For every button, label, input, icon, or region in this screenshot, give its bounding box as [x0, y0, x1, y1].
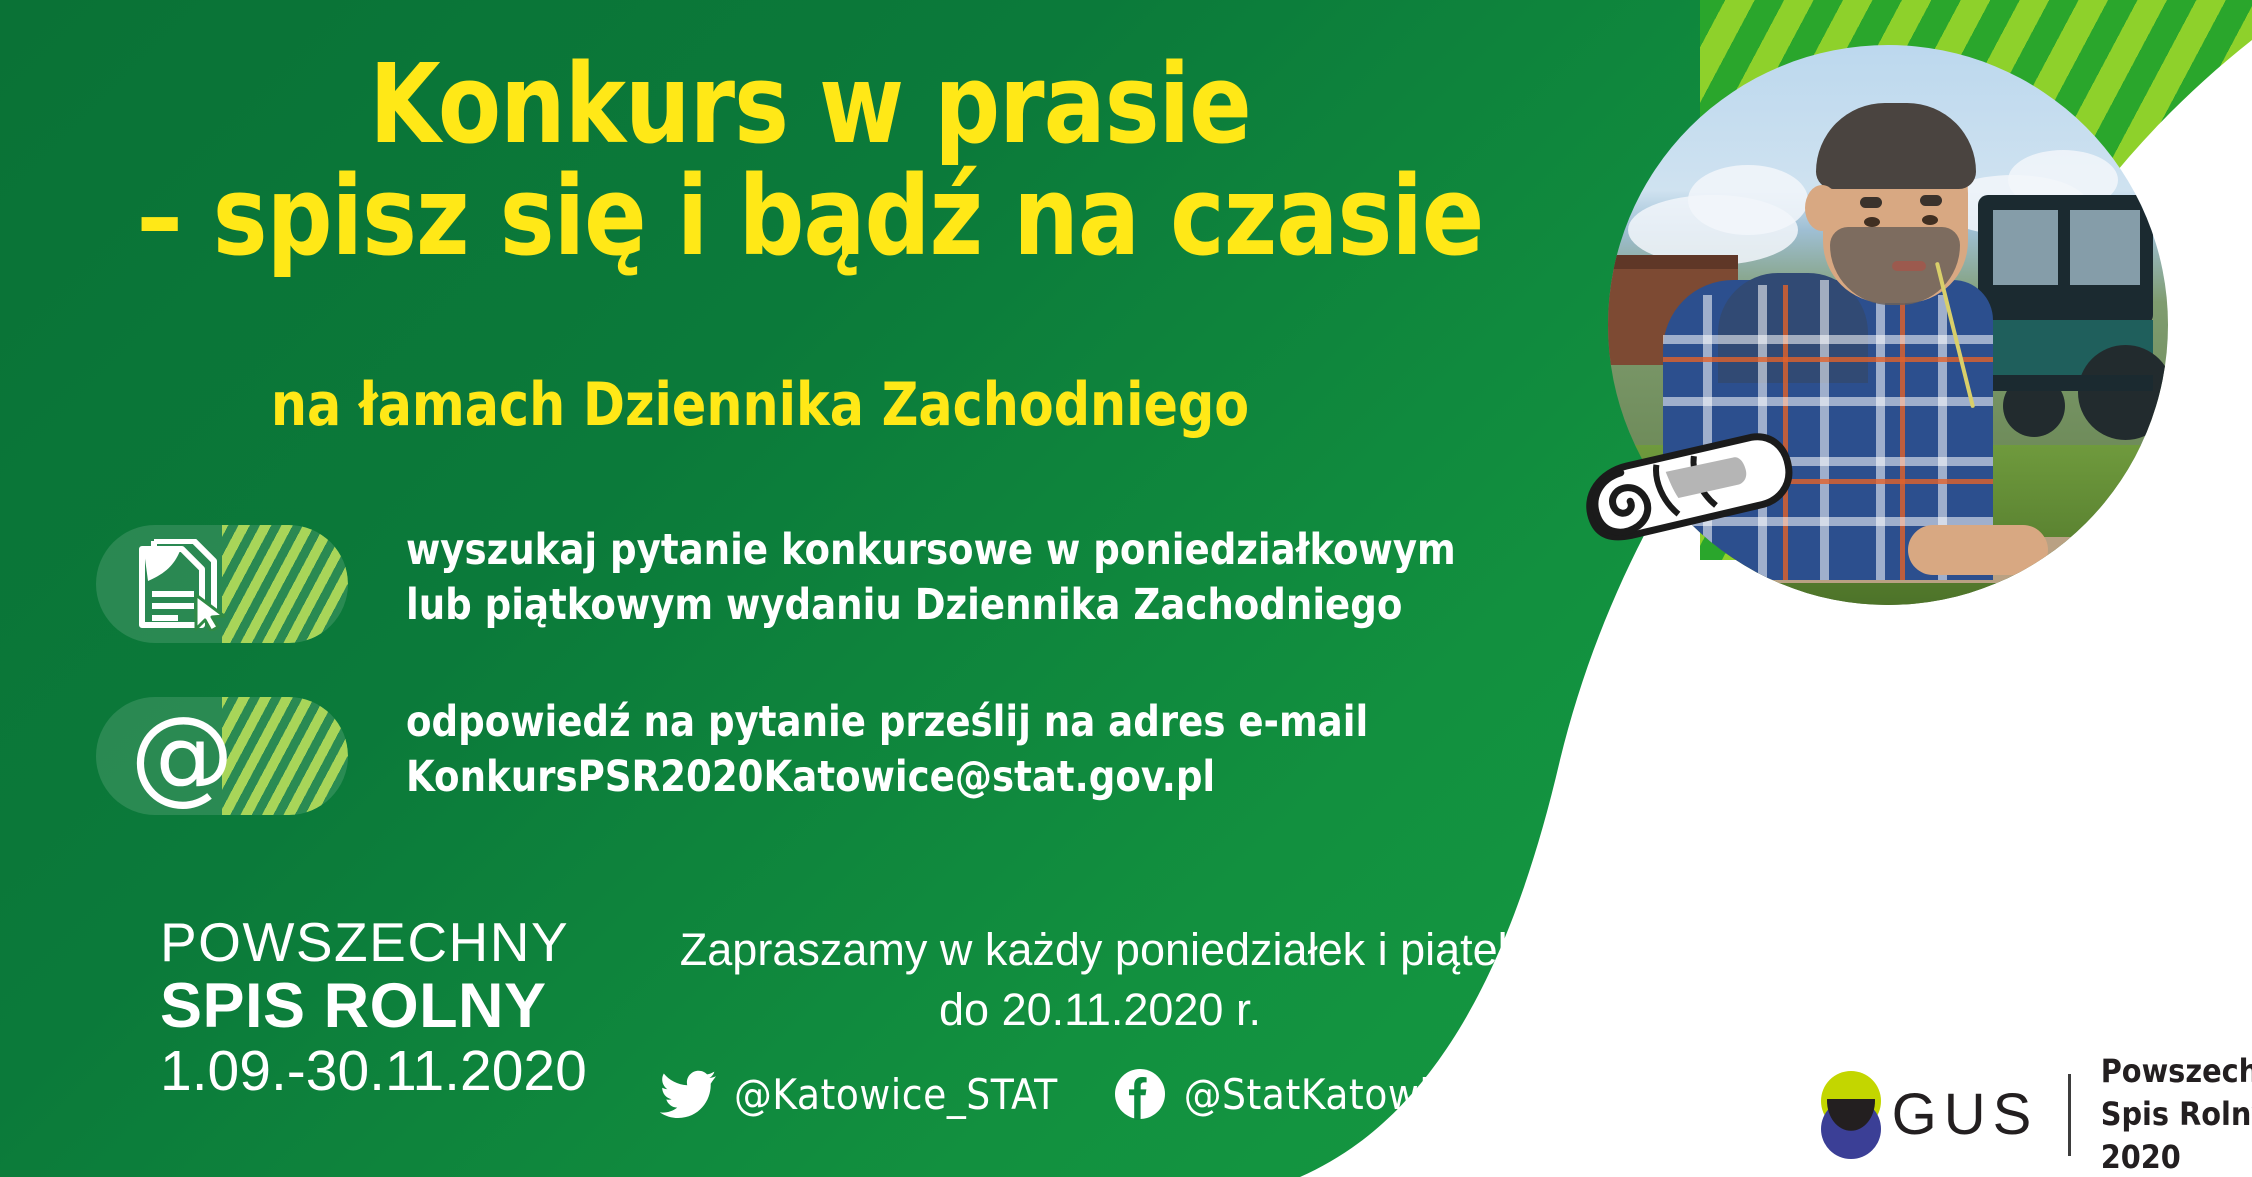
list-item: wyszukaj pytanie konkursowe w poniedział…	[96, 525, 1276, 645]
census-line-2: SPIS ROLNY	[160, 975, 587, 1038]
at-sign-icon: @	[122, 703, 242, 809]
census-line-1: POWSZECHNY	[160, 915, 587, 970]
headline-line-2: – spisz się i bądź na czasie	[57, 160, 1564, 272]
bullet-1-line-1: wyszukaj pytanie konkursowe w poniedział…	[406, 523, 1251, 578]
headline-subtitle: na łamach Dziennika Zachodniego	[46, 375, 1475, 435]
census-title-block: POWSZECHNY SPIS ROLNY 1.09.-30.11.2020	[160, 915, 587, 1100]
bullet-1-line-2: lub piątkowym wydaniu Dziennika Zachodni…	[406, 578, 1251, 633]
census-date-range: 1.09.-30.11.2020	[160, 1043, 587, 1100]
page-title: Konkurs w prasie – spisz się i bądź na c…	[57, 48, 1564, 272]
headline-line-1: Konkurs w prasie	[57, 48, 1564, 160]
logo-subtitle: Powszechny Spis Rolny 2020	[2101, 1050, 2252, 1177]
bullet-2-email: KonkursPSR2020Katowice@stat.gov.pl	[406, 750, 1251, 805]
list-item: @ odpowiedź na pytanie prześlij na adres…	[96, 697, 1276, 817]
twitter-handle: @Katowice_STAT	[734, 1070, 1058, 1119]
twitter-icon	[660, 1070, 716, 1118]
documents-cursor-icon	[126, 539, 238, 631]
facebook-icon	[1114, 1068, 1166, 1120]
instruction-list: wyszukaj pytanie konkursowe w poniedział…	[96, 525, 1276, 869]
rolled-newspaper-icon	[1580, 430, 1810, 600]
gus-logo-mark-icon	[1818, 1071, 1872, 1159]
bullet-2-line-1: odpowiedź na pytanie prześlij na adres e…	[406, 695, 1251, 750]
bullet-text-2: odpowiedź na pytanie prześlij na adres e…	[406, 695, 1251, 805]
facebook-handle: @StatKatowice	[1184, 1070, 1476, 1119]
gus-wordmark: GUS	[1892, 1081, 2039, 1148]
bullet-badge-2: @	[96, 697, 348, 815]
logo-subtitle-line-1: Powszechny	[2101, 1050, 2252, 1093]
gus-logo: GUS Powszechny Spis Rolny 2020	[1818, 1050, 2252, 1177]
badge-stripes-decoration	[222, 525, 348, 643]
logo-subtitle-line-2: Spis Rolny 2020	[2101, 1093, 2252, 1177]
invite-line-1: Zapraszamy w każdy poniedziałek i piątek	[620, 920, 1580, 980]
invite-line-2: do 20.11.2020 r.	[620, 980, 1580, 1040]
social-link-facebook[interactable]: @StatKatowice	[1114, 1068, 1476, 1120]
social-link-twitter[interactable]: @Katowice_STAT	[660, 1070, 1058, 1119]
banner-root: Konkurs w prasie – spisz się i bądź na c…	[0, 0, 2252, 1177]
bullet-badge-1	[96, 525, 348, 643]
logo-divider	[2068, 1074, 2070, 1156]
social-links: @Katowice_STAT @StatKatowice	[660, 1068, 1475, 1120]
invitation-text: Zapraszamy w każdy poniedziałek i piątek…	[620, 920, 1580, 1040]
bullet-text-1: wyszukaj pytanie konkursowe w poniedział…	[406, 523, 1251, 633]
